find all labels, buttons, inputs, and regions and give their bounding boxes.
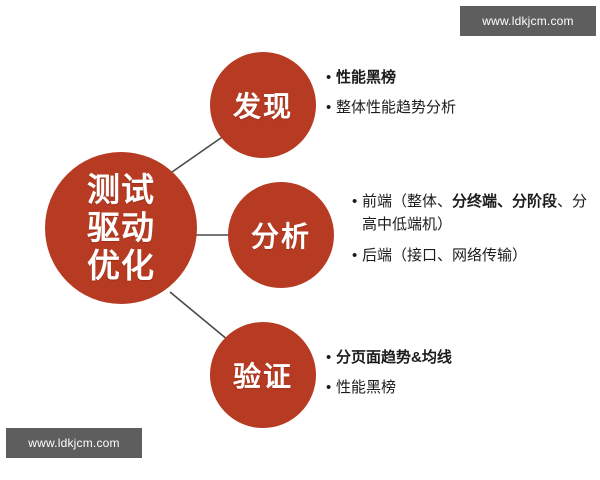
bullet-dot-icon: • bbox=[326, 346, 336, 369]
text-run-bold: 分阶段 bbox=[512, 193, 557, 210]
branch-label-discovery: 发现 bbox=[233, 85, 293, 125]
branch-bullets-verification: • 分页面趋势&均线 • 性能黑榜 bbox=[326, 346, 576, 407]
connector-hub-to-discovery bbox=[172, 133, 228, 172]
bullet-label: 分页面趋势&均线 bbox=[336, 346, 576, 369]
bullet-label: 性能黑榜 bbox=[336, 66, 576, 89]
list-item: • 后端（接口、网络传输） bbox=[352, 244, 596, 267]
branch-bullets-discovery: • 性能黑榜 • 整体性能趋势分析 bbox=[326, 66, 576, 127]
bullet-label: 整体性能趋势分析 bbox=[336, 96, 576, 119]
bullet-dot-icon: • bbox=[326, 376, 336, 399]
bullet-label: 性能黑榜 bbox=[336, 376, 576, 399]
text-run-normal: 后端（接口、网络传输） bbox=[362, 247, 527, 264]
text-run-bold: 分终端、 bbox=[452, 193, 512, 210]
branch-circle-discovery[interactable]: 发现 bbox=[210, 52, 316, 158]
list-item: • 性能黑榜 bbox=[326, 376, 576, 399]
bullet-label: 后端（接口、网络传输） bbox=[362, 244, 596, 267]
watermark-bottom-left: www.ldkjcm.com bbox=[6, 428, 142, 458]
list-item: • 整体性能趋势分析 bbox=[326, 96, 576, 119]
watermark-top-right: www.ldkjcm.com bbox=[460, 6, 596, 36]
branch-label-verification: 验证 bbox=[233, 355, 293, 395]
branch-bullets-analysis: • 前端（整体、分终端、分阶段、分高中低端机） • 后端（接口、网络传输） bbox=[352, 190, 596, 274]
bullet-dot-icon: • bbox=[326, 96, 336, 119]
hub-circle[interactable]: 测试 驱动 优化 bbox=[45, 152, 197, 304]
connector-hub-to-verification bbox=[170, 292, 228, 340]
text-run-normal: 前端（整体、 bbox=[362, 193, 452, 210]
bullet-label: 前端（整体、分终端、分阶段、分高中低端机） bbox=[362, 190, 596, 237]
bullet-dot-icon: • bbox=[352, 190, 362, 213]
bullet-dot-icon: • bbox=[352, 244, 362, 267]
diagram-canvas: 测试 驱动 优化 发现 • 性能黑榜 • 整体性能趋势分析 分析 • 前端（整体… bbox=[0, 0, 600, 480]
list-item: • 性能黑榜 bbox=[326, 66, 576, 89]
list-item: • 前端（整体、分终端、分阶段、分高中低端机） bbox=[352, 190, 596, 237]
branch-circle-verification[interactable]: 验证 bbox=[210, 322, 316, 428]
list-item: • 分页面趋势&均线 bbox=[326, 346, 576, 369]
hub-label: 测试 驱动 优化 bbox=[87, 171, 155, 286]
branch-circle-analysis[interactable]: 分析 bbox=[228, 182, 334, 288]
branch-label-analysis: 分析 bbox=[251, 215, 311, 255]
bullet-dot-icon: • bbox=[326, 66, 336, 89]
